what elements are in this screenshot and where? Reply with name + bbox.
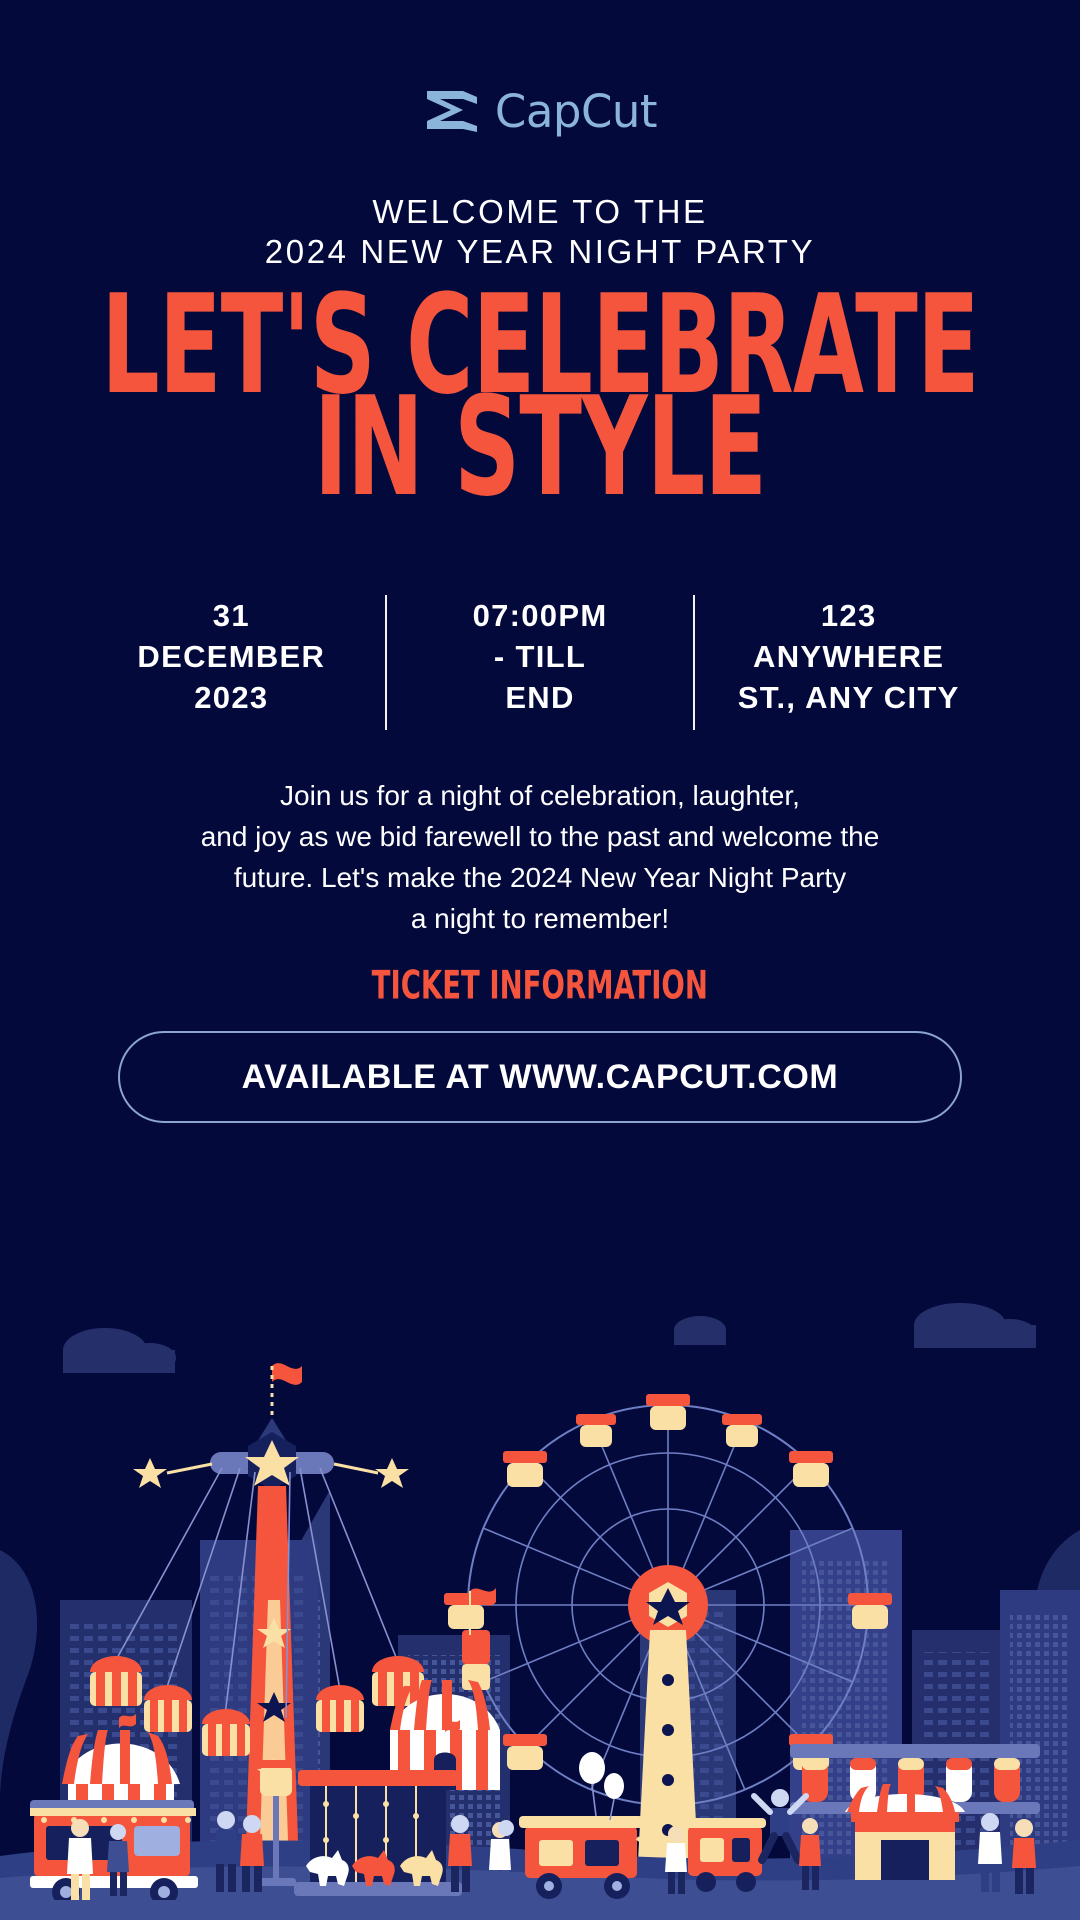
detail-location-line-1: 123	[707, 595, 990, 636]
ticket-availability-button[interactable]: AVAILABLE AT WWW.CAPCUT.COM	[118, 1031, 962, 1123]
event-description: Join us for a night of celebration, laug…	[60, 775, 1020, 940]
poster-canvas: CapCut WELCOME TO THE 2024 NEW YEAR NIGH…	[0, 0, 1080, 1920]
capcut-logo-icon	[423, 88, 481, 134]
detail-location: 123 ANYWHERE ST., ANY CITY	[707, 595, 990, 730]
detail-date: 31 DECEMBER 2023	[90, 595, 373, 730]
welcome-heading: WELCOME TO THE 2024 NEW YEAR NIGHT PARTY	[0, 192, 1080, 273]
detail-location-line-2: ANYWHERE	[707, 636, 990, 677]
carnival-night-illustration	[0, 1300, 1080, 1920]
detail-time: 07:00PM - TILL END	[399, 595, 682, 730]
description-line-2: and joy as we bid farewell to the past a…	[60, 816, 1020, 857]
ticket-information-heading: TICKET INFORMATION	[0, 966, 1080, 1006]
event-details-row: 31 DECEMBER 2023 07:00PM - TILL END 123 …	[90, 595, 990, 730]
description-line-1: Join us for a night of celebration, laug…	[60, 775, 1020, 816]
page-title: LET'S CELEBRATE IN STYLE	[0, 295, 1080, 499]
detail-time-line-3: END	[399, 677, 682, 718]
detail-divider-2	[693, 595, 695, 730]
detail-date-line-3: 2023	[90, 677, 373, 718]
detail-time-line-2: - TILL	[399, 636, 682, 677]
detail-date-line-1: 31	[90, 595, 373, 636]
detail-time-line-1: 07:00PM	[399, 595, 682, 636]
brand-logo: CapCut	[0, 88, 1080, 134]
detail-date-line-2: DECEMBER	[90, 636, 373, 677]
description-line-4: a night to remember!	[60, 898, 1020, 939]
description-line-3: future. Let's make the 2024 New Year Nig…	[60, 857, 1020, 898]
welcome-line-1: WELCOME TO THE	[0, 192, 1080, 232]
ticket-information-label: TICKET INFORMATION	[372, 963, 708, 1009]
ticket-availability-label: AVAILABLE AT WWW.CAPCUT.COM	[242, 1058, 839, 1097]
logo-wordmark: CapCut	[495, 89, 657, 134]
detail-location-line-3: ST., ANY CITY	[707, 677, 990, 718]
headline-line-2: IN STYLE	[65, 388, 1015, 508]
detail-divider-1	[385, 595, 387, 730]
